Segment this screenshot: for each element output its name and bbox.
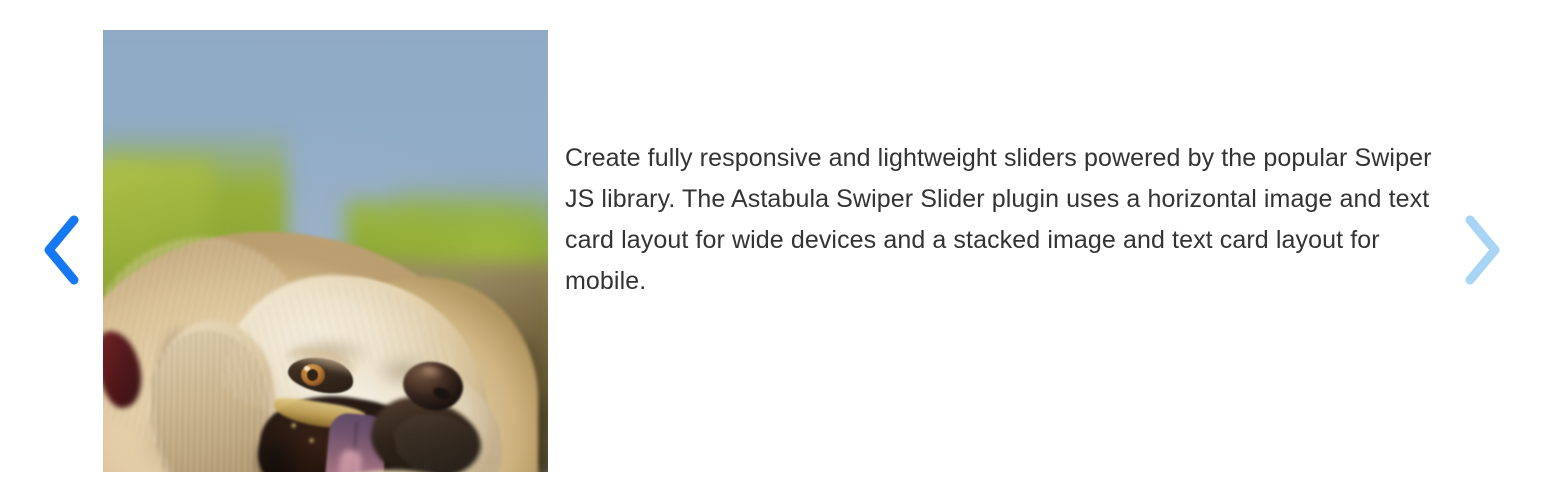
slide-description: Create fully responsive and lightweight … xyxy=(565,138,1445,302)
chevron-left-icon xyxy=(42,214,82,286)
dog-photo xyxy=(103,30,548,472)
slide-content: Create fully responsive and lightweight … xyxy=(548,30,1445,302)
slide: Create fully responsive and lightweight … xyxy=(103,30,1444,472)
swiper-slider: Create fully responsive and lightweight … xyxy=(0,0,1544,500)
dog-mouth-corner xyxy=(255,430,315,472)
chevron-right-icon xyxy=(1462,214,1502,286)
prev-slide-button[interactable] xyxy=(22,0,102,500)
next-slide-button[interactable] xyxy=(1442,0,1522,500)
dog-eye-pupil xyxy=(307,369,318,381)
slide-image xyxy=(103,30,548,472)
